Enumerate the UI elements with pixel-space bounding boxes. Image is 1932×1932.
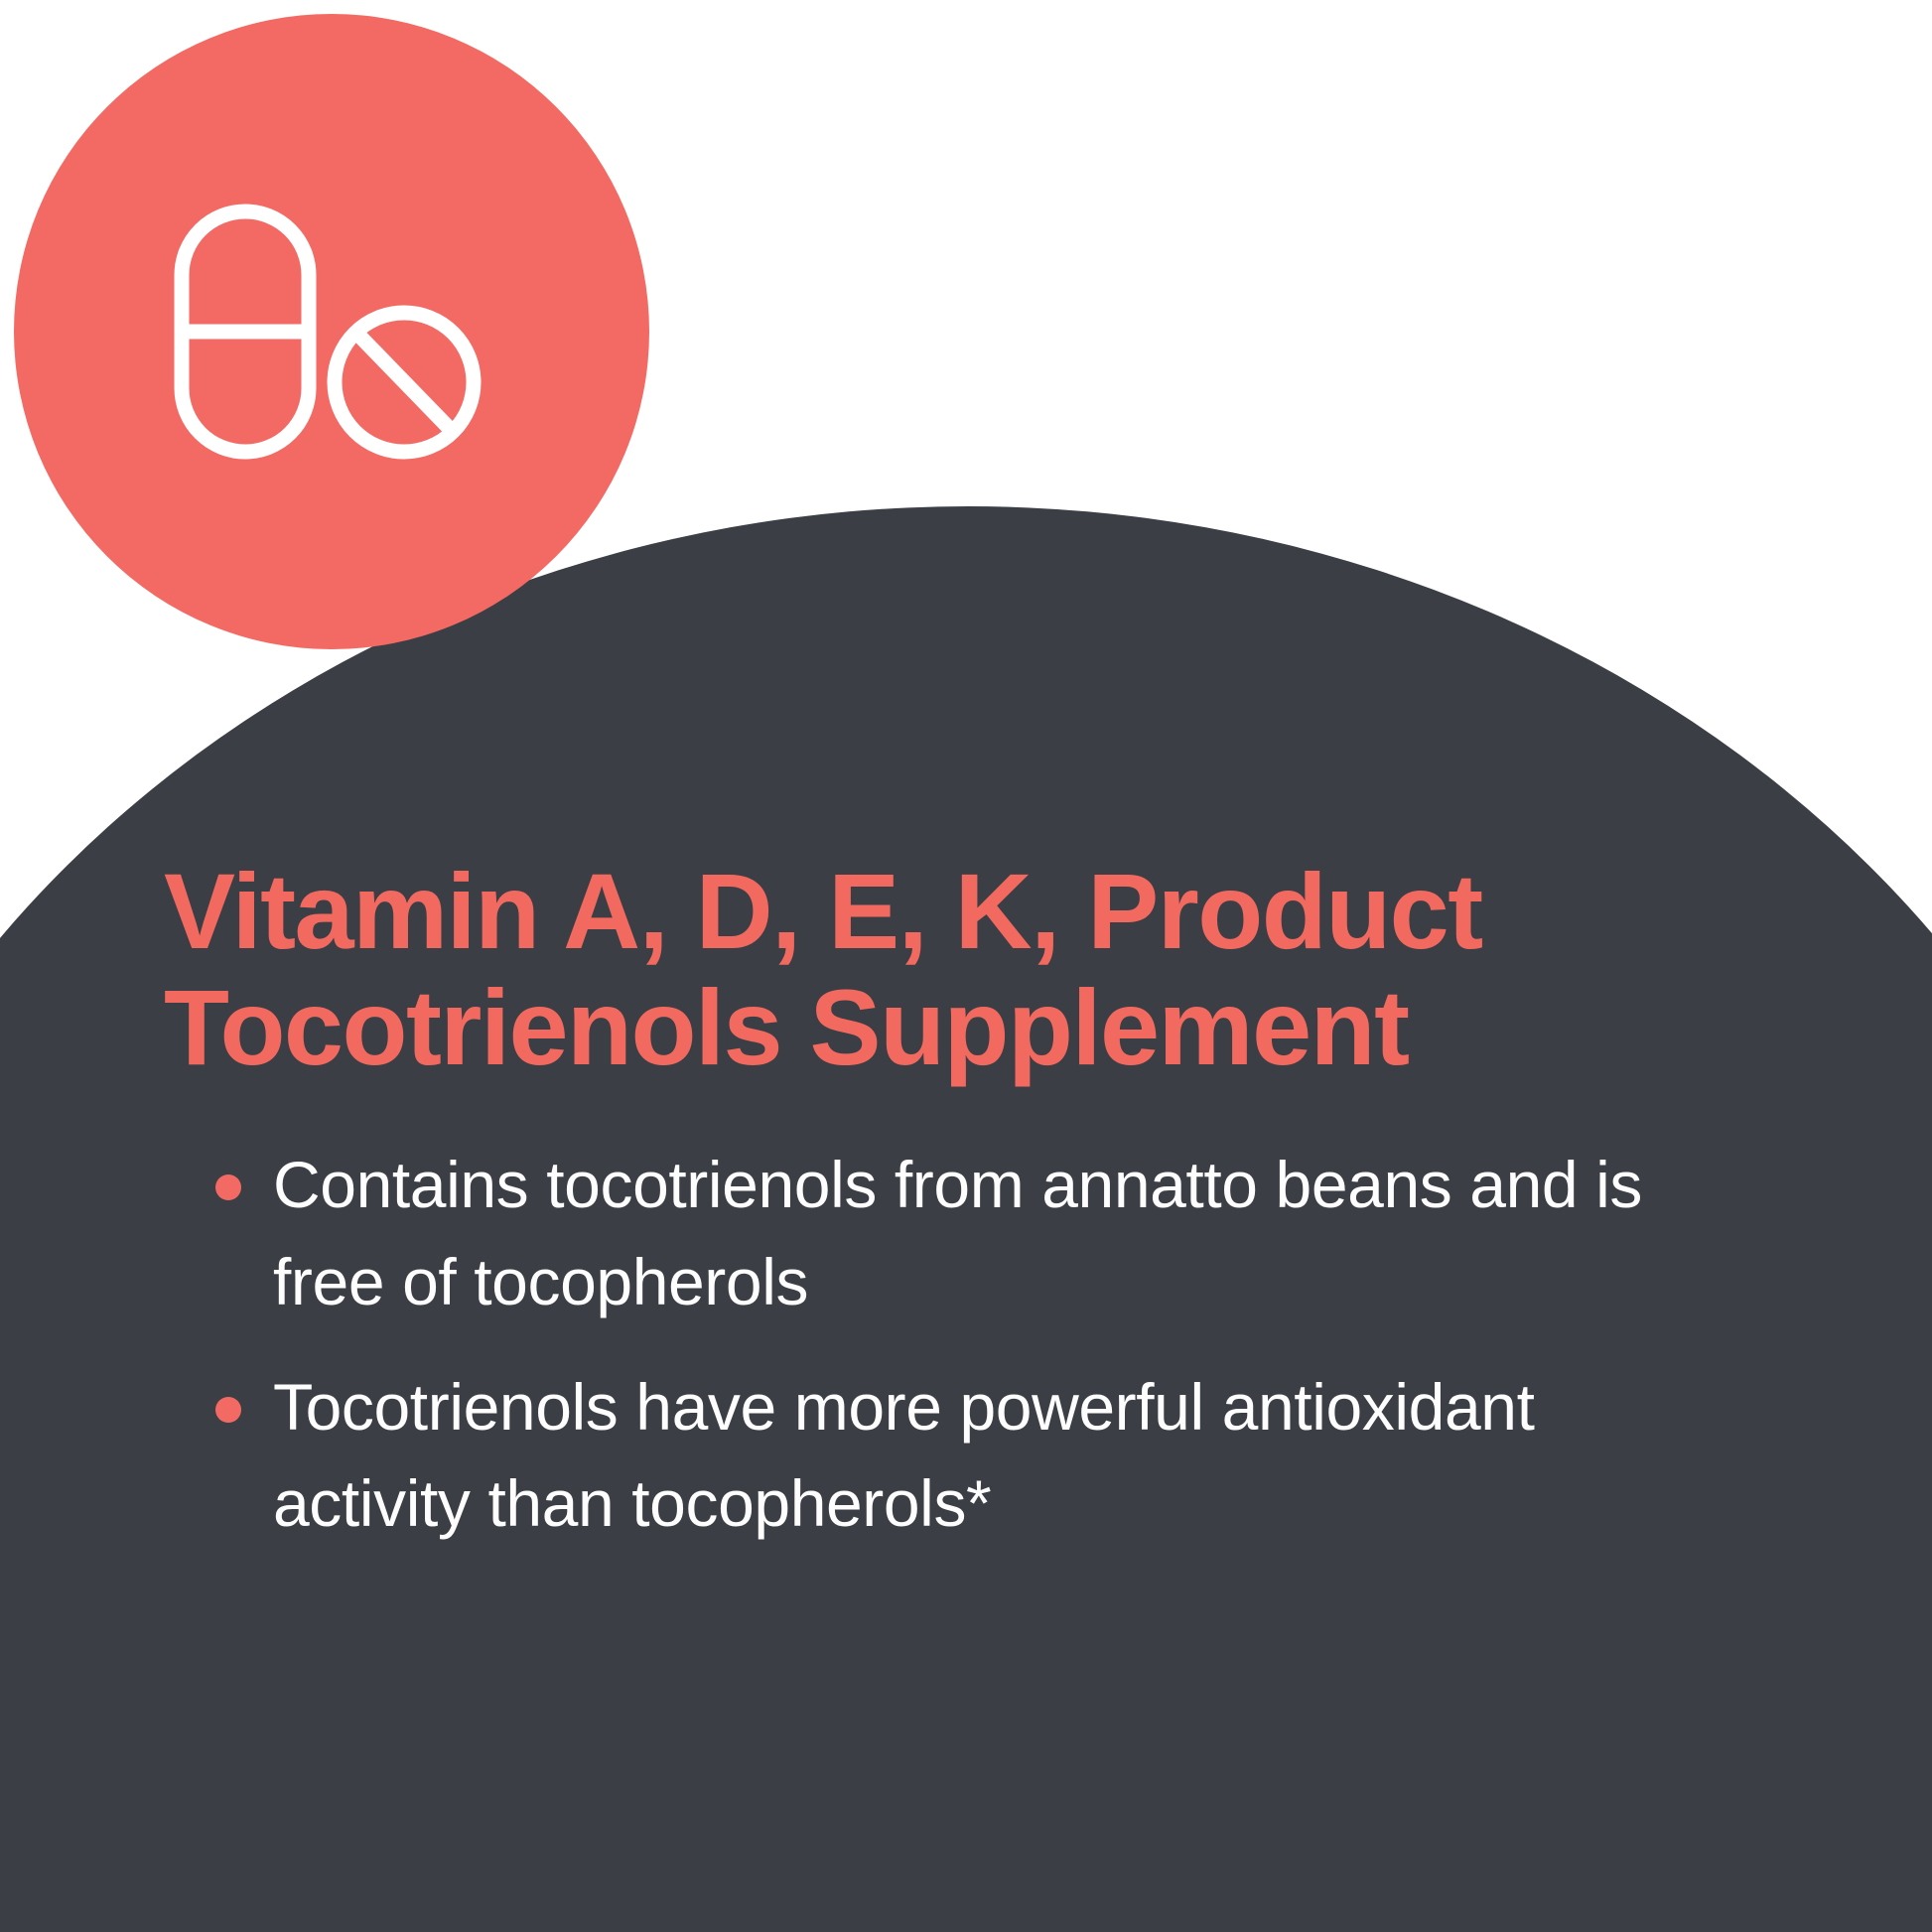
list-item: Contains tocotrienols from annatto beans… (273, 1137, 1723, 1330)
content-block: Vitamin A, D, E, K, Product Tocotrienols… (0, 854, 1932, 1553)
product-feature-card: Vitamin A, D, E, K, Product Tocotrienols… (0, 0, 1932, 1932)
headline-line-2: Tocotrienols Supplement (164, 967, 1409, 1087)
page-title: Vitamin A, D, E, K, Product Tocotrienols… (164, 854, 1673, 1085)
feature-bullet-list: Contains tocotrienols from annatto beans… (164, 1137, 1783, 1553)
list-item: Tocotrienols have more powerful antioxid… (273, 1359, 1723, 1553)
pill-icon-badge (14, 14, 649, 649)
headline-line-1: Vitamin A, D, E, K, Product (164, 851, 1482, 971)
list-item-text: Tocotrienols have more powerful antioxid… (273, 1370, 1535, 1541)
bullet-dot-icon (215, 1397, 241, 1423)
bullet-dot-icon (215, 1174, 241, 1200)
pills-icon (168, 198, 495, 466)
list-item-text: Contains tocotrienols from annatto beans… (273, 1148, 1642, 1318)
